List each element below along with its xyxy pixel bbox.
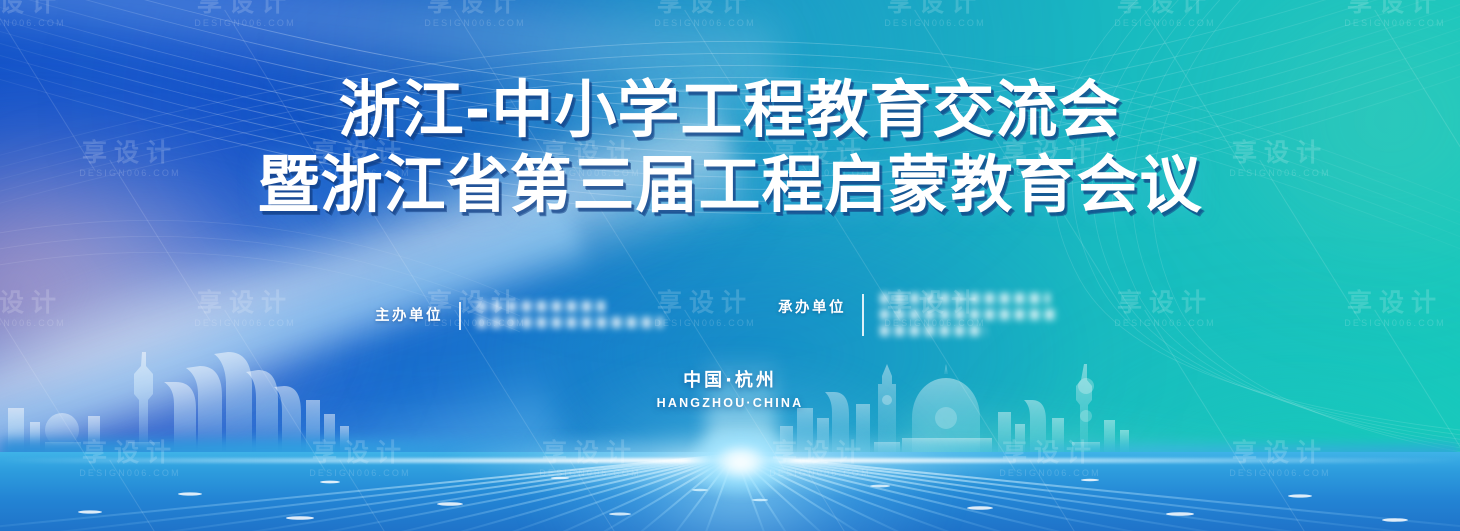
watermark-text-en: DESIGN006.COM xyxy=(1320,19,1460,28)
organizer-section: 主办单位 承办单位 xyxy=(0,286,1460,346)
co-host-redacted-names xyxy=(880,290,1058,336)
redacted-text-line xyxy=(880,293,1050,304)
host-divider xyxy=(459,302,461,330)
redacted-text-line xyxy=(477,301,605,312)
title-line-2: 暨浙江省第三届工程启蒙教育会议 xyxy=(0,153,1460,216)
watermark-text-en: DESIGN006.COM xyxy=(1090,19,1240,28)
poster-title: 浙江-中小学工程教育交流会 暨浙江省第三届工程启蒙教育会议 xyxy=(0,78,1460,216)
watermark-text-en: DESIGN006.COM xyxy=(170,19,320,28)
watermark: 享设计DESIGN006.COM xyxy=(400,0,550,28)
center-light-burst xyxy=(686,426,796,498)
watermark: 享设计DESIGN006.COM xyxy=(1320,0,1460,28)
watermark-text-en: DESIGN006.COM xyxy=(400,19,550,28)
watermark-text-cn: 享设计 xyxy=(400,0,550,15)
watermark-text-cn: 享设计 xyxy=(170,0,320,15)
watermark-text-en: DESIGN006.COM xyxy=(860,19,1010,28)
watermark: 享设计DESIGN006.COM xyxy=(860,0,1010,28)
watermark-text-cn: 享设计 xyxy=(1320,0,1460,15)
watermark-text-cn: 享设计 xyxy=(1090,0,1240,15)
redacted-text-line xyxy=(880,325,986,336)
redacted-text-line xyxy=(477,317,663,328)
watermark: 享设计DESIGN006.COM xyxy=(1090,0,1240,28)
title-line-1: 浙江-中小学工程教育交流会 xyxy=(0,78,1460,141)
city-name-cn: 中国·杭州 xyxy=(0,366,1460,392)
host-redacted-names xyxy=(477,298,663,328)
watermark-text-cn: 享设计 xyxy=(0,0,90,15)
watermark: 享设计DESIGN006.COM xyxy=(170,0,320,28)
watermark-text-en: DESIGN006.COM xyxy=(630,19,780,28)
co-host-divider xyxy=(862,294,864,336)
watermark-text-en: DESIGN006.COM xyxy=(0,19,90,28)
host-label: 主办单位 xyxy=(375,298,443,325)
city-label: 中国·杭州 HANGZHOU·CHINA xyxy=(0,366,1460,410)
city-name-en: HANGZHOU·CHINA xyxy=(0,396,1460,410)
conference-poster: 享设计DESIGN006.COM享设计DESIGN006.COM享设计DESIG… xyxy=(0,0,1460,531)
watermark: 享设计DESIGN006.COM xyxy=(0,0,90,28)
watermark: 享设计DESIGN006.COM xyxy=(630,0,780,28)
co-host-label: 承办单位 xyxy=(778,290,846,317)
redacted-text-line xyxy=(880,309,1058,320)
co-host-organization-block: 承办单位 xyxy=(778,290,1058,336)
watermark-text-cn: 享设计 xyxy=(630,0,780,15)
watermark-text-cn: 享设计 xyxy=(860,0,1010,15)
host-organization-block: 主办单位 xyxy=(375,298,663,330)
